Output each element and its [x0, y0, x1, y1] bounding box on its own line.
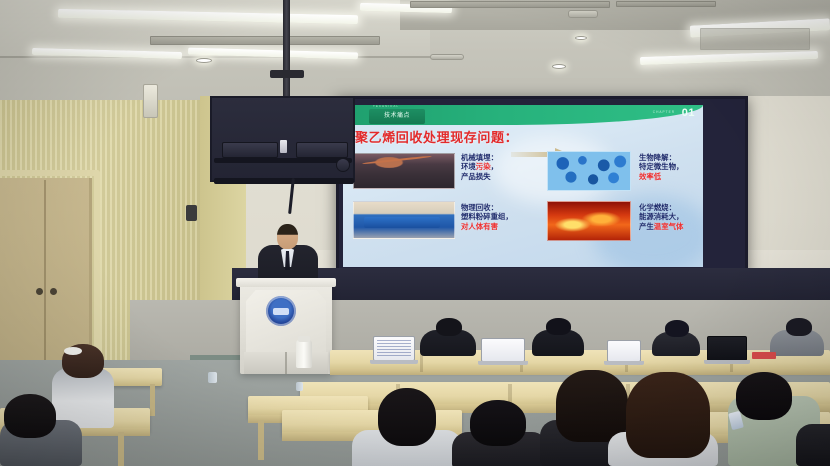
ceiling-vent [616, 1, 716, 7]
audience-hair [4, 394, 56, 438]
mount-bar [214, 158, 352, 163]
slide-item-line2: 特定微生物， [639, 162, 683, 171]
slide-page-number: 01 [682, 107, 695, 119]
door-handle[interactable] [50, 288, 57, 295]
door-seam [44, 180, 46, 376]
laptop-base [370, 360, 418, 364]
laptop-base [478, 361, 528, 365]
desk-item-card [752, 352, 776, 359]
mount-bar [214, 178, 354, 184]
audience-person [796, 424, 830, 466]
podium-top [236, 278, 336, 287]
slide-image-flame [547, 201, 631, 241]
slide-item-text: 生物降解： 特定微生物， 效率低 [639, 153, 683, 181]
slide-page-sub: CHAPTER [653, 110, 675, 114]
slide-image-landfill [353, 153, 455, 189]
mount-device [222, 142, 278, 158]
laptop-screen[interactable] [707, 336, 747, 361]
door-handle[interactable] [36, 288, 43, 295]
laptop-screen[interactable] [607, 340, 641, 362]
audience-hair [470, 400, 526, 446]
slide-item-line2: 塑料粉碎重组， [461, 212, 513, 221]
slide-item-text: 化学燃烧： 能源消耗大， 产生温室气体 [639, 203, 683, 231]
mount-ceiling-plate [270, 70, 304, 78]
highlight-text: 对人体有害 [461, 222, 513, 231]
audience-hair [378, 388, 436, 446]
audience-hair [736, 372, 792, 420]
ceiling-speaker [430, 54, 464, 60]
laptop-base [604, 361, 644, 365]
slide-item-line3: 产生温室气体 [639, 222, 683, 231]
cup [208, 372, 217, 383]
ceiling-spotlight [575, 36, 587, 40]
presenter-head [277, 224, 298, 249]
desk-leg [258, 420, 264, 460]
highlight-text: 污染 [476, 162, 491, 171]
ceiling-vent [700, 28, 810, 50]
slide-badge-sub: TECHNICAL [373, 105, 399, 108]
laptop-content [377, 340, 411, 357]
mount-device [296, 142, 348, 158]
audience-hair [626, 372, 710, 458]
desk-leg [118, 432, 124, 466]
slide-item-text: 物理回收： 塑料粉碎重组， 对人体有害 [461, 203, 513, 231]
ceiling-spotlight [552, 64, 566, 69]
wall-speaker [143, 84, 158, 118]
laptop-screen[interactable] [481, 338, 525, 362]
ceiling-speaker [568, 10, 598, 18]
ceiling-light [640, 51, 818, 65]
mount-camera [336, 158, 350, 172]
wall-sensor [186, 205, 197, 221]
slide-section-badge: 技术痛点 [369, 109, 425, 124]
slide-image-cells [547, 151, 631, 191]
laptop-screen[interactable] [373, 336, 415, 361]
podium-seam [285, 352, 287, 374]
ceiling-spotlight [196, 58, 212, 63]
audience-hair [665, 320, 689, 337]
mount-pole [283, 0, 290, 110]
audience-hair [546, 318, 571, 335]
lecture-hall-scene: TECHNICAL 技术痛点 CHAPTER 01 聚乙烯回收处理现存问题： 机… [0, 0, 830, 466]
slide-title: 聚乙烯回收处理现存问题： [355, 127, 518, 146]
audience-hair [556, 370, 628, 442]
slide-item-line2: 环境污染， [461, 162, 498, 171]
presentation-slide: TECHNICAL 技术痛点 CHAPTER 01 聚乙烯回收处理现存问题： 机… [343, 105, 703, 267]
thermos-bottle [296, 340, 312, 368]
wall-display: TECHNICAL 技术痛点 CHAPTER 01 聚乙烯回收处理现存问题： 机… [336, 96, 748, 276]
laptop-base [704, 360, 750, 364]
ceiling-vent [410, 1, 610, 8]
slide-item-line2: 能源消耗大， [639, 212, 683, 221]
audience-hair [786, 318, 812, 336]
highlight-text: 效率低 [639, 172, 683, 181]
highlight-text: 温室气体 [654, 222, 684, 231]
cup [296, 382, 303, 391]
slide-item-line3: 产品损失 [461, 172, 498, 181]
mount-indicator [280, 140, 287, 153]
slide-image-machinery [353, 201, 455, 239]
display-mount-bracket [210, 96, 355, 182]
ceiling-vent [150, 36, 380, 45]
hair-accessory [64, 347, 82, 355]
slide-item-text: 机械填埋： 环境污染， 产品损失 [461, 153, 498, 181]
university-crest-icon [266, 296, 296, 326]
thermos-cap [298, 336, 310, 342]
audience-hair [436, 318, 462, 336]
desk-leg [150, 384, 155, 416]
